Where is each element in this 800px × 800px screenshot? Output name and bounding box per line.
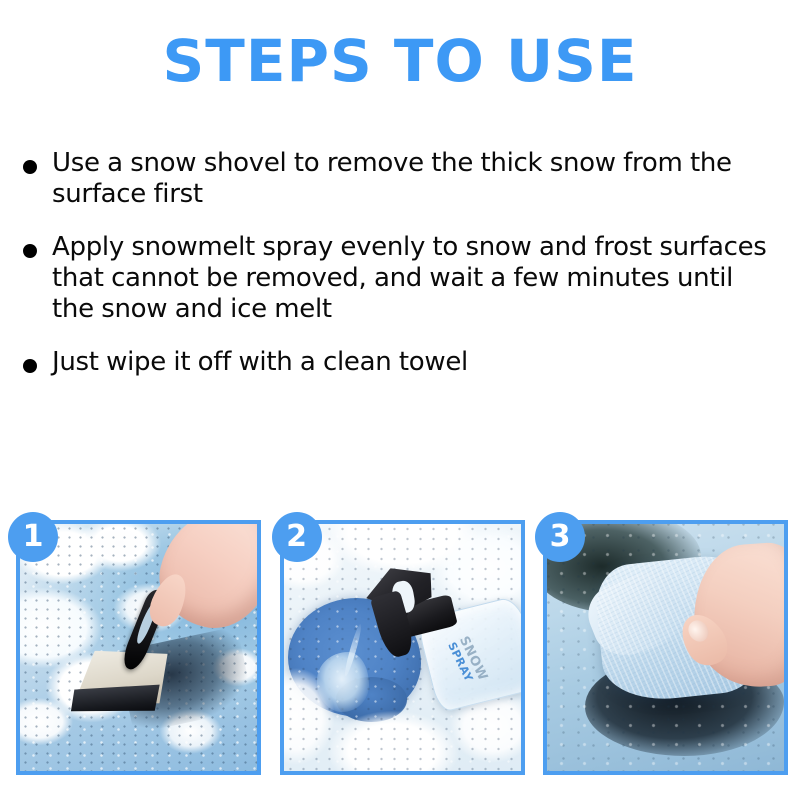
step-item-2: Apply snowmelt spray evenly to snow and …: [20, 232, 782, 325]
step-item-1: Use a snow shovel to remove the thick sn…: [20, 148, 782, 210]
step-badge-3: 3: [535, 512, 585, 562]
photo-frame: SNOW SPRAY: [280, 520, 525, 775]
page-title: STEPS TO USE: [0, 30, 800, 92]
snow-shovel-photo: [20, 524, 257, 771]
liquid-splash: [317, 652, 369, 711]
bullet-icon: [23, 359, 37, 373]
step-badge-1: 1: [8, 512, 58, 562]
step-text-3: Just wipe it off with a clean towel: [52, 347, 468, 377]
steps-to-use-infographic: STEPS TO USE Use a snow shovel to remove…: [0, 0, 800, 800]
photo-frame: [16, 520, 261, 775]
step-badge-2: 2: [272, 512, 322, 562]
step-photo-panel-1: 1: [16, 520, 261, 775]
bullet-icon: [23, 244, 37, 258]
towel-wipe-photo: [547, 524, 784, 771]
step-photo-panel-2: SNOW SPRAY 2: [280, 520, 525, 775]
steps-list: Use a snow shovel to remove the thick sn…: [20, 148, 782, 378]
photo-frame: [543, 520, 788, 775]
step-photo-gallery: 1 SNOW SPRAY: [16, 520, 788, 778]
spray-bottle-photo: SNOW SPRAY: [284, 524, 521, 771]
step-text-2: Apply snowmelt spray evenly to snow and …: [52, 232, 767, 324]
step-item-3: Just wipe it off with a clean towel: [20, 347, 782, 378]
step-text-1: Use a snow shovel to remove the thick sn…: [52, 148, 732, 209]
bullet-icon: [23, 160, 37, 174]
step-photo-panel-3: 3: [543, 520, 788, 775]
